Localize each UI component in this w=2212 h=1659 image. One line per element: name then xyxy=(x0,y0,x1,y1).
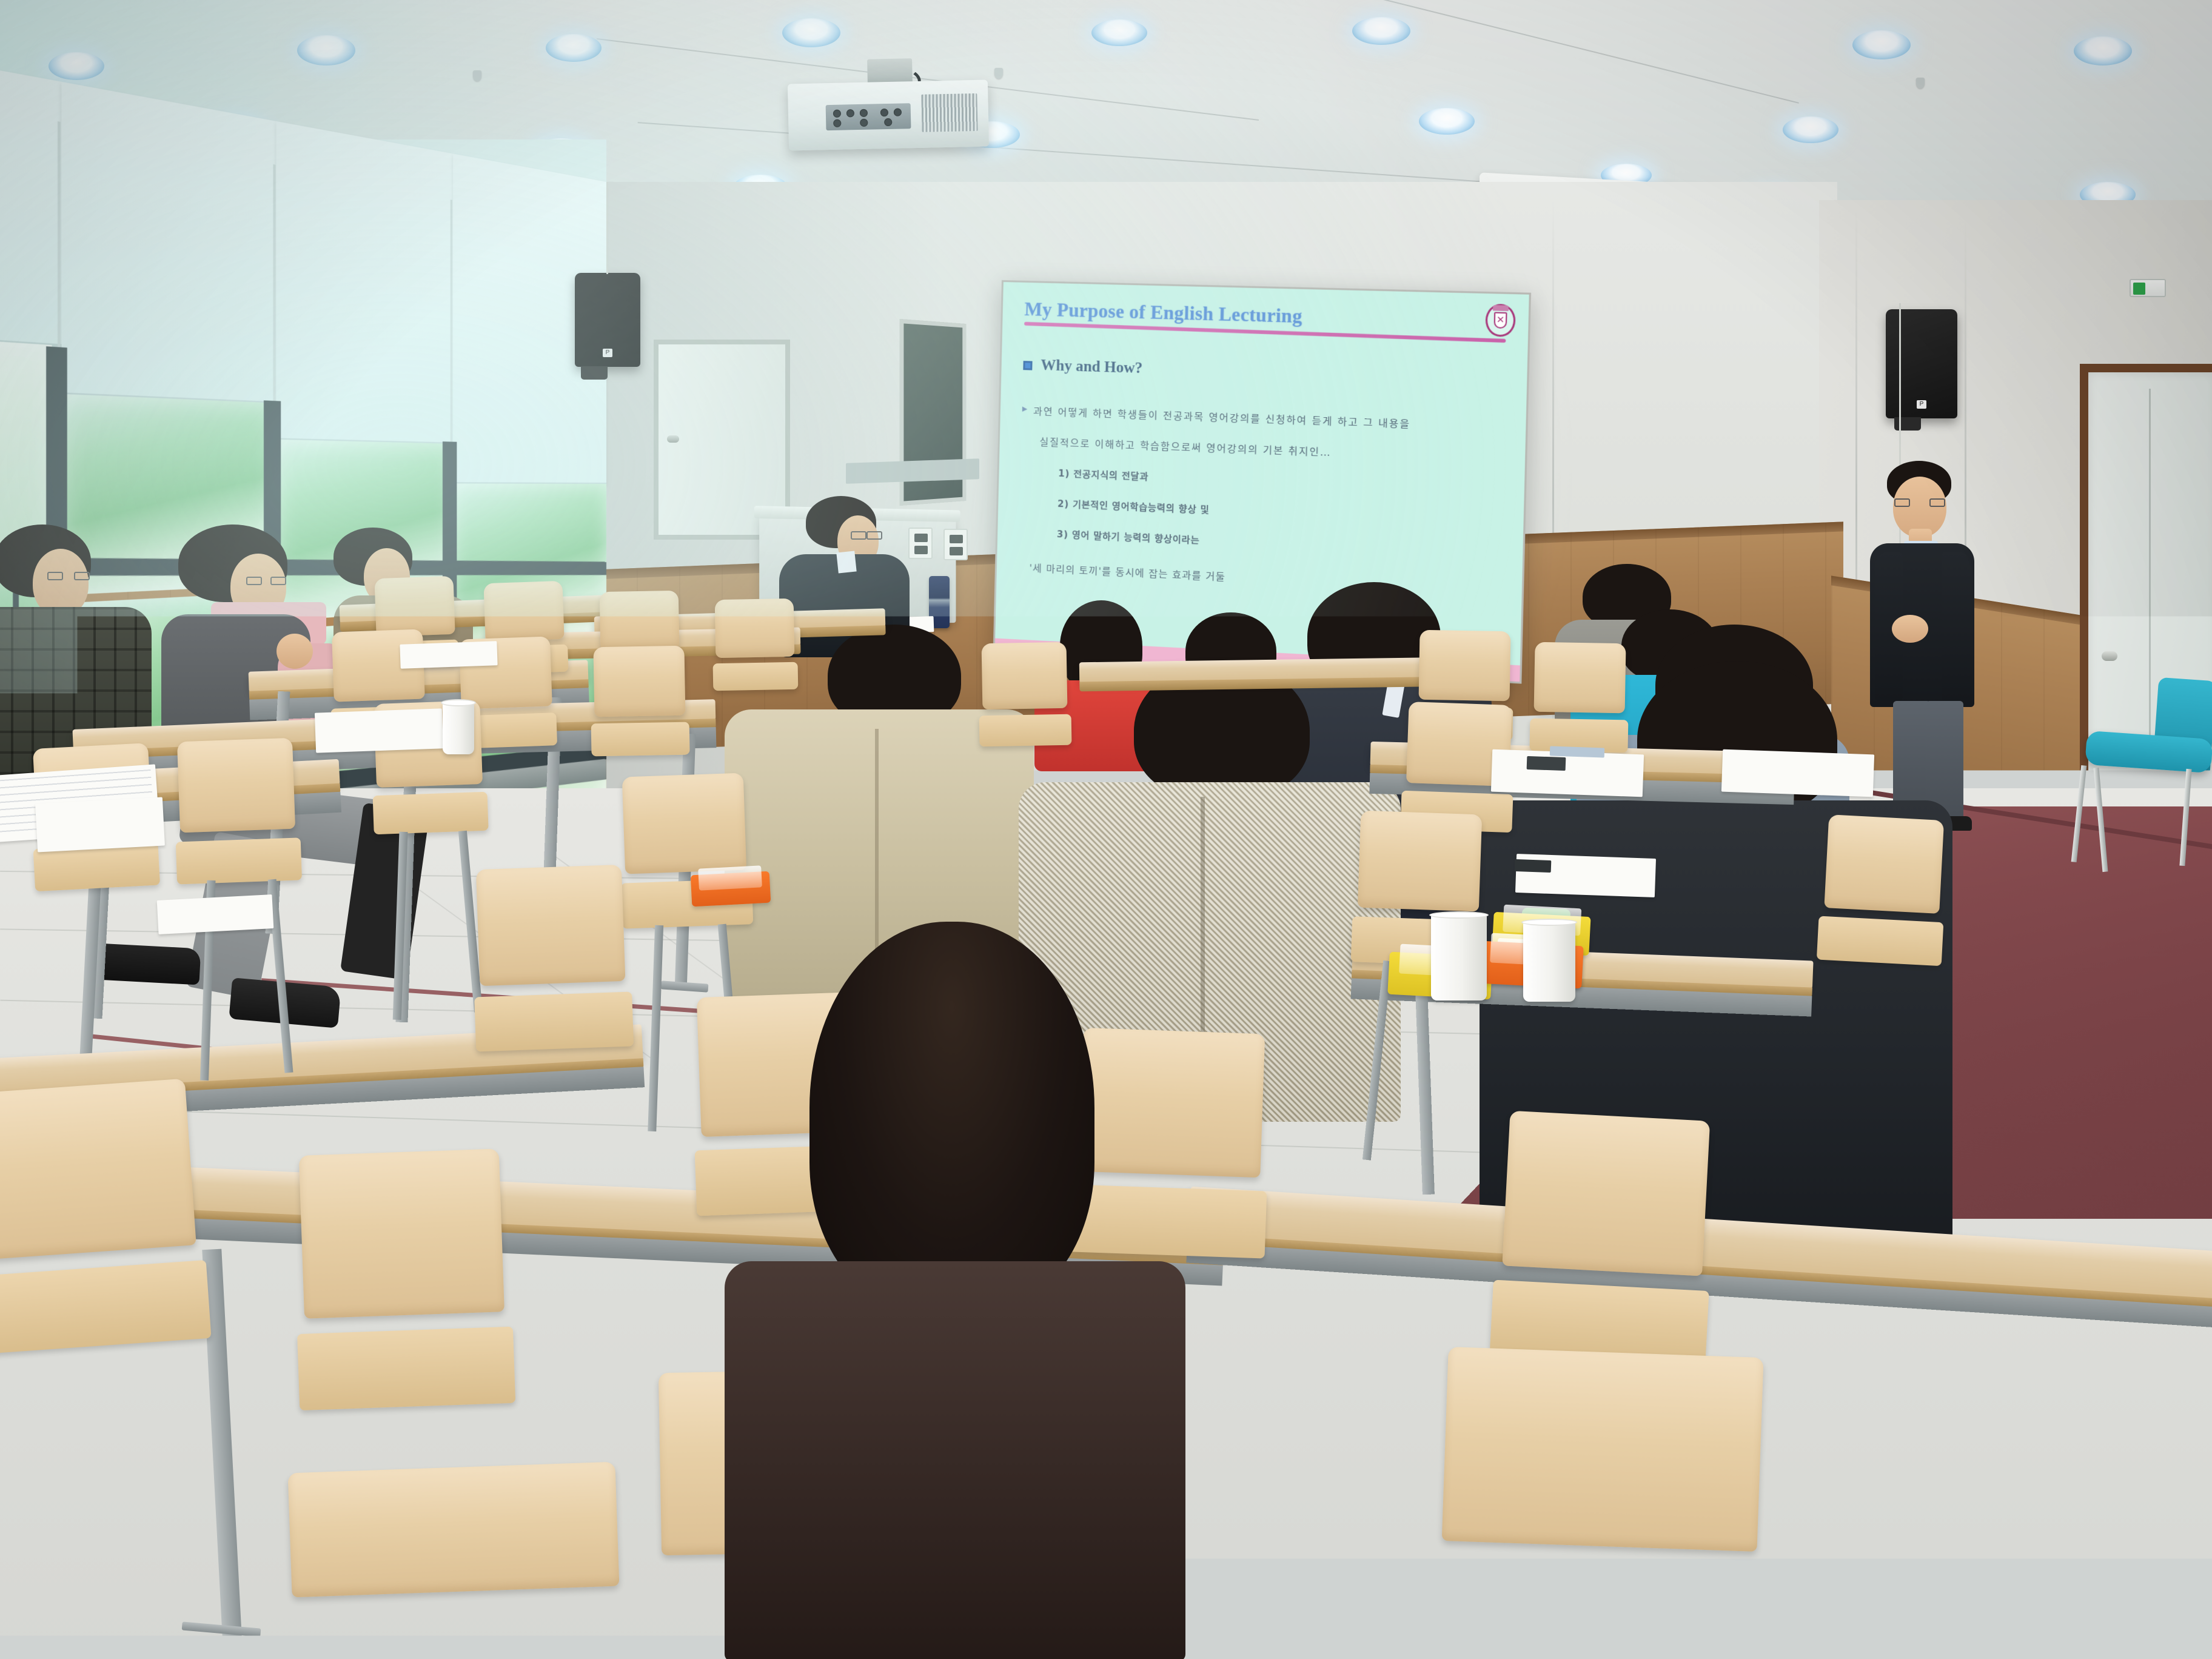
chair[interactable] xyxy=(593,646,686,757)
ceiling-projector xyxy=(788,80,989,151)
chair[interactable] xyxy=(1822,814,1944,966)
bunny-body xyxy=(1212,1241,1235,1262)
slide-bullet-text: Why and How? xyxy=(1041,357,1142,377)
wall-speaker-left: P xyxy=(575,273,640,367)
ceiling-downlight xyxy=(1352,17,1410,45)
glasses-icon xyxy=(851,531,882,537)
door-knob-icon[interactable] xyxy=(2102,651,2117,661)
bunny-body xyxy=(1161,1249,1184,1270)
long-hair-woman xyxy=(700,922,1185,1659)
university-crest-logo: ✕ xyxy=(1485,304,1516,337)
blind-cord[interactable] xyxy=(273,164,275,404)
presenter-hands xyxy=(1892,615,1928,643)
emergency-exit-sign xyxy=(2130,279,2166,297)
chair[interactable] xyxy=(715,598,796,691)
slide-sub-item: 2) 기본적인 영어학습능력의 향상 및 xyxy=(1057,497,1502,528)
blind-cord[interactable] xyxy=(451,199,452,445)
glasses-icon xyxy=(47,572,90,578)
glasses-icon xyxy=(1894,498,1945,504)
notebook-edge xyxy=(1550,746,1605,757)
roller-blind[interactable] xyxy=(276,121,453,445)
dark-top xyxy=(725,1261,1185,1659)
small-device xyxy=(1527,756,1566,771)
bunny-panel-3 xyxy=(1255,1222,1295,1262)
projector-connector-panel xyxy=(826,103,911,130)
ceiling-downlight xyxy=(1783,116,1838,143)
projector-body xyxy=(788,80,989,151)
ceiling-downlight xyxy=(1419,108,1475,135)
paper-sheet xyxy=(400,641,497,669)
arrow-bullet-icon: ▸ xyxy=(1022,403,1028,415)
paper-cup xyxy=(1523,922,1575,1002)
bunny-body xyxy=(1264,1233,1287,1254)
chair[interactable] xyxy=(0,1079,203,1353)
projector-vent-fins xyxy=(921,93,977,132)
sprinkler-head-icon xyxy=(473,70,481,81)
ceiling-downlight xyxy=(1091,19,1147,46)
roller-blind[interactable] xyxy=(61,82,276,404)
desk xyxy=(1079,657,1455,683)
chair[interactable] xyxy=(622,773,749,929)
speaker-bracket xyxy=(581,366,608,380)
bunny-panel-2 xyxy=(1204,1231,1244,1271)
chair[interactable] xyxy=(1533,642,1626,753)
sprinkler-head-icon xyxy=(994,68,1003,79)
long-wavy-hair xyxy=(809,922,1094,1310)
chair-foreground[interactable] xyxy=(288,1462,622,1659)
speaker-wire xyxy=(606,182,608,274)
paper-sheet xyxy=(157,894,274,934)
chair[interactable] xyxy=(177,738,297,884)
blind-cord[interactable] xyxy=(58,121,61,363)
bullet-square-icon xyxy=(1023,361,1032,370)
paper-cup xyxy=(443,702,474,754)
small-device xyxy=(1515,859,1552,873)
handout-panel-row: Characters Project Practice xyxy=(1142,1209,1330,1313)
classroom-photo-scene: My Purpose of English Lecturing Why and … xyxy=(0,0,2212,1659)
chair-foreground[interactable] xyxy=(1438,1347,1763,1659)
chair[interactable] xyxy=(299,1148,508,1410)
ceiling-downlight xyxy=(1852,30,1911,59)
chair[interactable] xyxy=(1498,1111,1710,1364)
slide-bullet-row: Why and How? xyxy=(1023,357,1505,389)
paper-cup xyxy=(1431,914,1487,1000)
roller-blind[interactable] xyxy=(0,33,61,347)
slide-body-line-2: 실질적으로 이해하고 학습함으로써 영어강의의 기본 취지인… xyxy=(1039,434,1503,465)
speaker-brand-logo: P xyxy=(603,349,612,357)
slide-sub-item: 1) 전공지식의 전달과 xyxy=(1058,467,1503,497)
ceiling-downlight xyxy=(782,18,840,47)
wall-outlet[interactable] xyxy=(943,529,968,560)
ceiling-downlight xyxy=(297,35,355,65)
slide-body-line-1-row: ▸ 과연 어떻게 하면 학생들이 전공과목 영어강의를 신청하여 듣게 하고 그… xyxy=(1022,403,1504,434)
presenter-head xyxy=(1893,477,1946,537)
paper-sheet xyxy=(1721,749,1874,797)
slide-body-line-1: 과연 어떻게 하면 학생들이 전공과목 영어강의를 신청하여 듣게 하고 그 내… xyxy=(1033,403,1410,431)
shoe xyxy=(96,943,201,985)
speaker-bracket xyxy=(1894,417,1921,431)
chair[interactable] xyxy=(476,865,628,1051)
sprinkler-head-icon xyxy=(1916,78,1925,89)
ceiling-downlight xyxy=(546,34,602,62)
wall-speaker-right: P xyxy=(1886,309,1957,418)
speaker-brand-logo: P xyxy=(1917,400,1926,409)
shirt-collar xyxy=(836,551,856,574)
ceiling-downlight xyxy=(2074,36,2132,65)
paper-sheet xyxy=(315,708,443,752)
ceiling-downlight xyxy=(49,52,104,80)
slide-sub-item: 3) 영어 말하기 능력의 향상이라는 xyxy=(1057,528,1501,560)
door-knob-icon[interactable] xyxy=(667,435,679,443)
exit-sign-icon xyxy=(2133,283,2145,295)
paper-sheet xyxy=(35,797,165,853)
snack-tray-orange xyxy=(691,871,771,907)
door-seam xyxy=(2149,389,2151,763)
chair[interactable] xyxy=(982,642,1068,746)
bunny-panel-1 xyxy=(1152,1239,1192,1279)
crest-mark: ✕ xyxy=(1495,315,1506,326)
